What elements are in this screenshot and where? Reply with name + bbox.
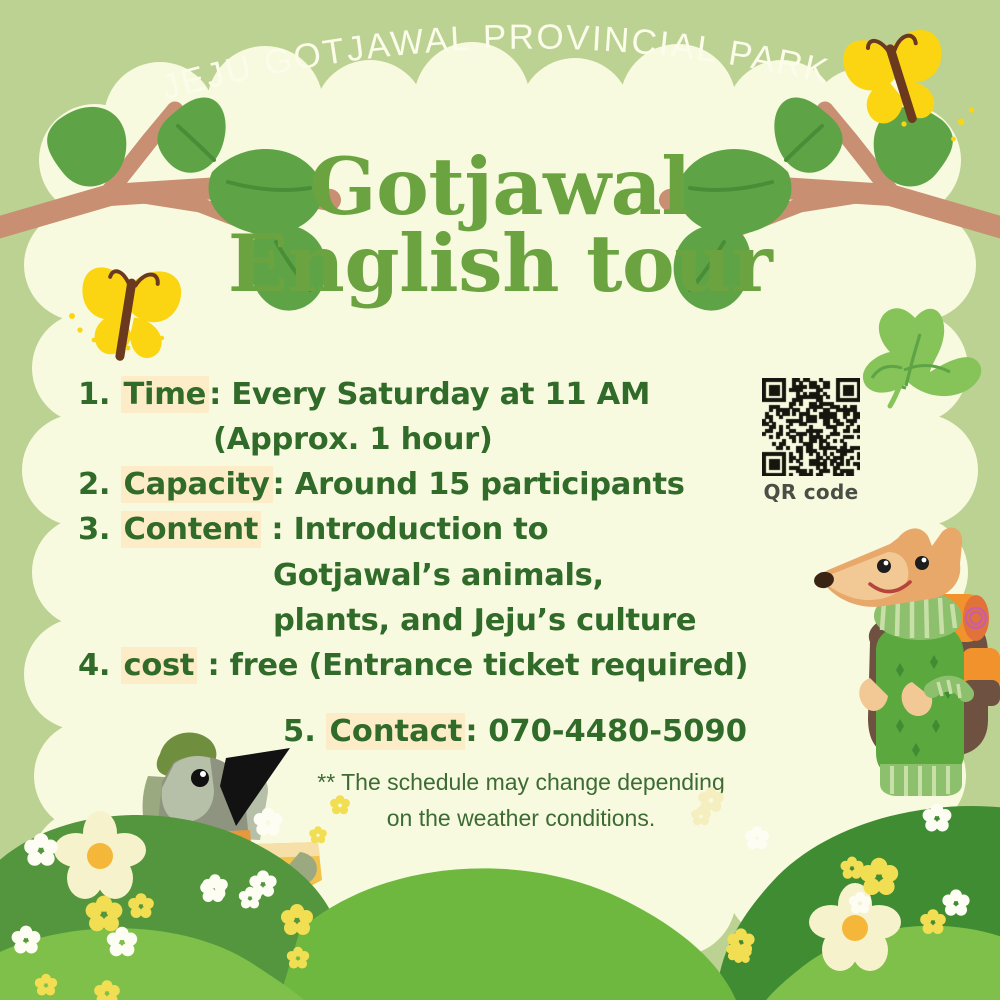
grass-hills <box>0 0 1000 1000</box>
poster-canvas: JEJU GOTJAWAL PROVINCIAL PARK Gotjawal E… <box>0 0 1000 1000</box>
hill-center <box>276 868 740 1000</box>
flower-icon <box>691 787 724 825</box>
